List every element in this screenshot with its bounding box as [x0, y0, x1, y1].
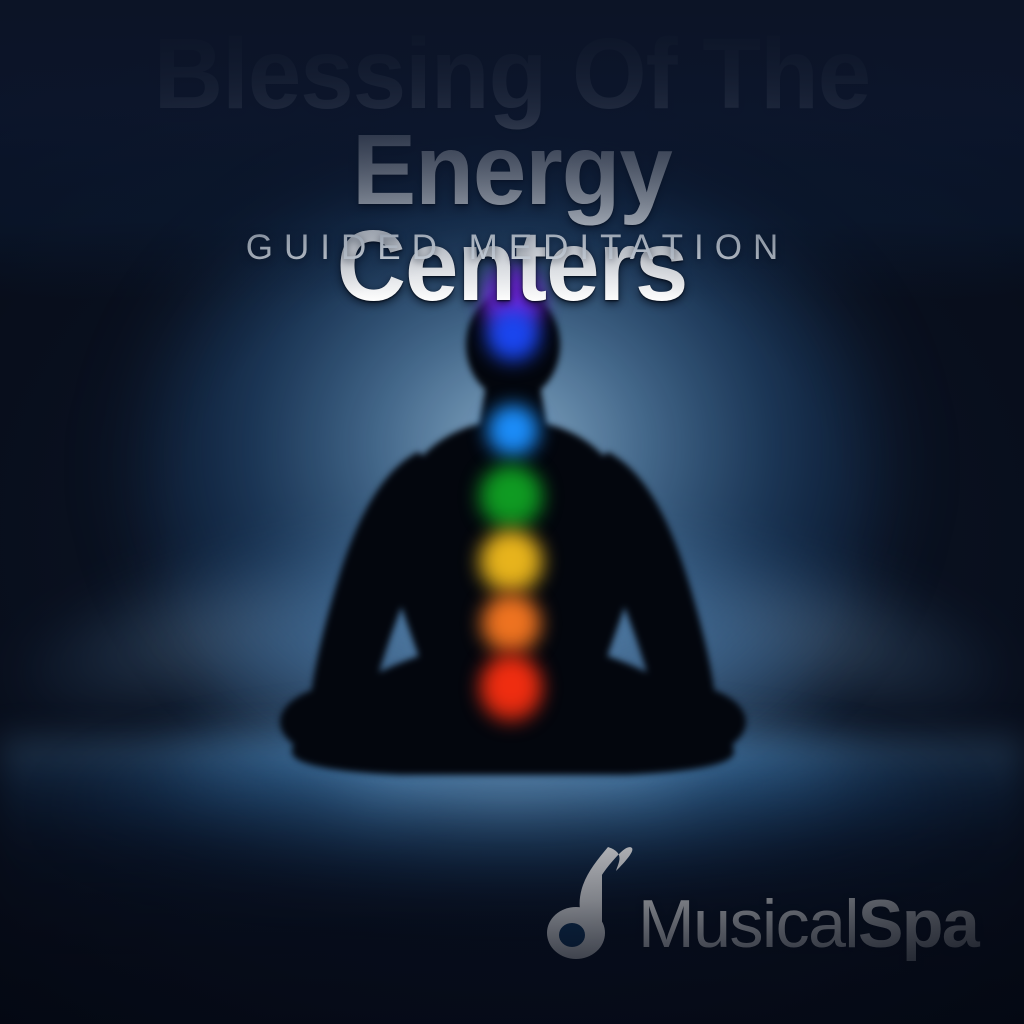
album-cover: Blessing Of The Energy Centers GUIDED ME… — [0, 0, 1024, 1024]
top-fade-overlay — [0, 0, 1024, 300]
